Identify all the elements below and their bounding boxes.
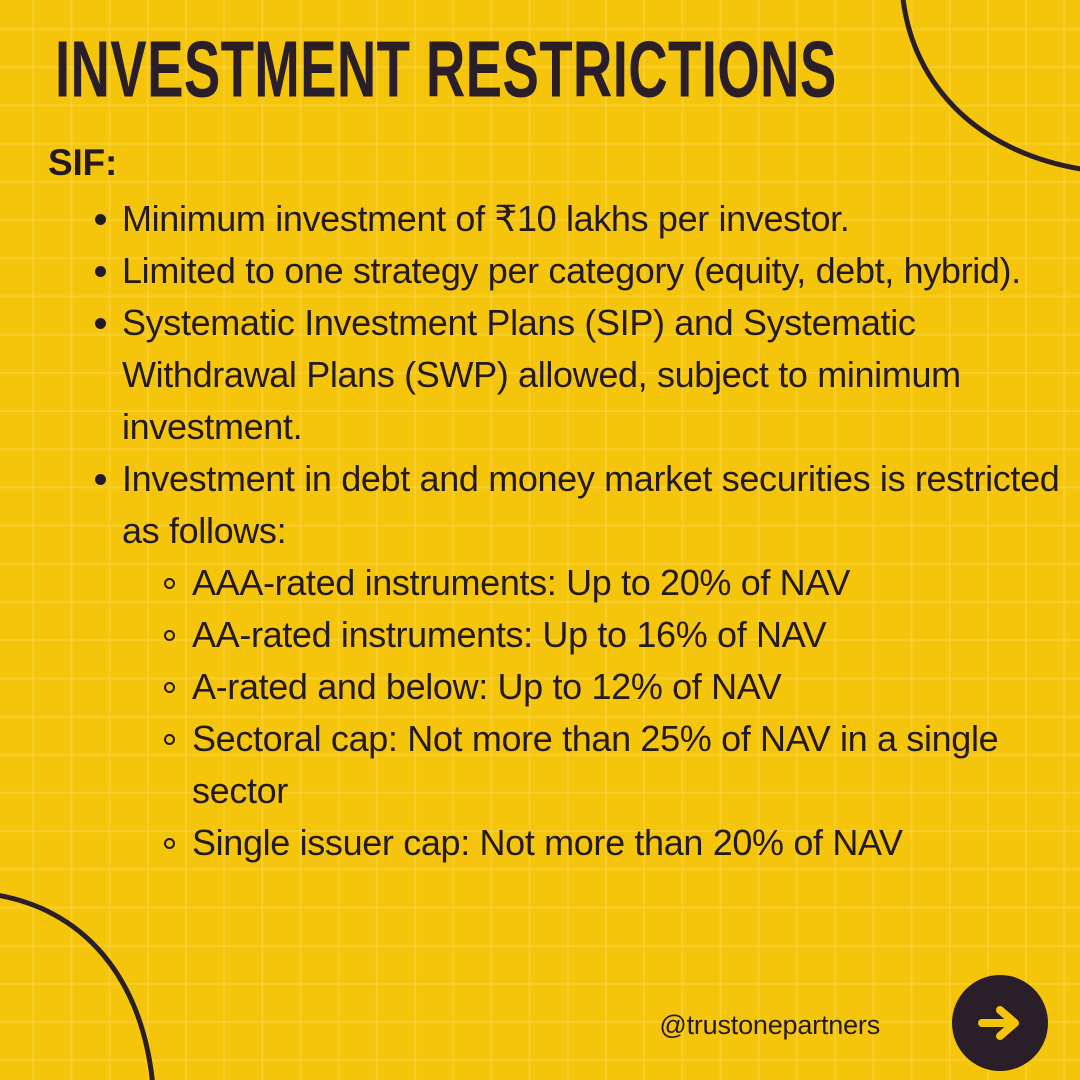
list-item: Systematic Investment Plans (SIP) and Sy… <box>122 297 1080 453</box>
sub-list-item-label: Single issuer cap: Not more than 20% of … <box>192 822 903 863</box>
page-title: INVESTMENT RESTRICTIONS <box>55 28 741 110</box>
bullet-circle-icon <box>164 557 175 609</box>
bullet-circle-icon <box>164 817 175 869</box>
sub-list-item: AA-rated instruments: Up to 16% of NAV <box>192 609 1080 661</box>
list-item: Limited to one strategy per category (eq… <box>122 245 1080 297</box>
list-item: Minimum investment of ₹10 lakhs per inve… <box>122 193 1080 245</box>
bullet-list: Minimum investment of ₹10 lakhs per inve… <box>58 193 1080 869</box>
slide-canvas: INVESTMENT RESTRICTIONS SIF: Minimum inv… <box>0 0 1080 1080</box>
sub-list-item-label: Sectoral cap: Not more than 25% of NAV i… <box>192 718 998 811</box>
arrow-right-icon <box>971 994 1029 1052</box>
sub-list-item-label: AAA-rated instruments: Up to 20% of NAV <box>192 562 850 603</box>
bullet-circle-icon <box>164 609 175 661</box>
sub-list-item: A-rated and below: Up to 12% of NAV <box>192 661 1080 713</box>
bullet-dot-icon <box>95 453 109 505</box>
next-slide-button[interactable] <box>952 975 1048 1071</box>
bullet-dot-icon <box>95 245 109 297</box>
list-item-label: Systematic Investment Plans (SIP) and Sy… <box>122 297 1080 453</box>
bullet-dot-icon <box>95 297 109 349</box>
sub-list-item-label: AA-rated instruments: Up to 16% of NAV <box>192 614 826 655</box>
social-handle: @trustonepartners <box>659 1008 880 1042</box>
list-item-label: Limited to one strategy per category (eq… <box>122 245 1080 297</box>
slide-content: INVESTMENT RESTRICTIONS SIF: Minimum inv… <box>0 0 1080 1080</box>
bullet-circle-icon <box>164 661 175 713</box>
sub-bullet-list: AAA-rated instruments: Up to 20% of NAV … <box>122 557 1080 869</box>
list-item-label: Minimum investment of ₹10 lakhs per inve… <box>122 193 1080 245</box>
sub-list-item: AAA-rated instruments: Up to 20% of NAV <box>192 557 1080 609</box>
bullet-circle-icon <box>164 713 175 765</box>
sub-list-item: Sectoral cap: Not more than 25% of NAV i… <box>192 713 1080 817</box>
list-item-label: Investment in debt and money market secu… <box>122 453 1080 557</box>
bullet-dot-icon <box>95 193 109 245</box>
list-item: Investment in debt and money market secu… <box>122 453 1080 869</box>
sub-list-item: Single issuer cap: Not more than 20% of … <box>192 817 1080 869</box>
section-subheading: SIF: <box>48 140 117 186</box>
sub-list-item-label: A-rated and below: Up to 12% of NAV <box>192 666 781 707</box>
